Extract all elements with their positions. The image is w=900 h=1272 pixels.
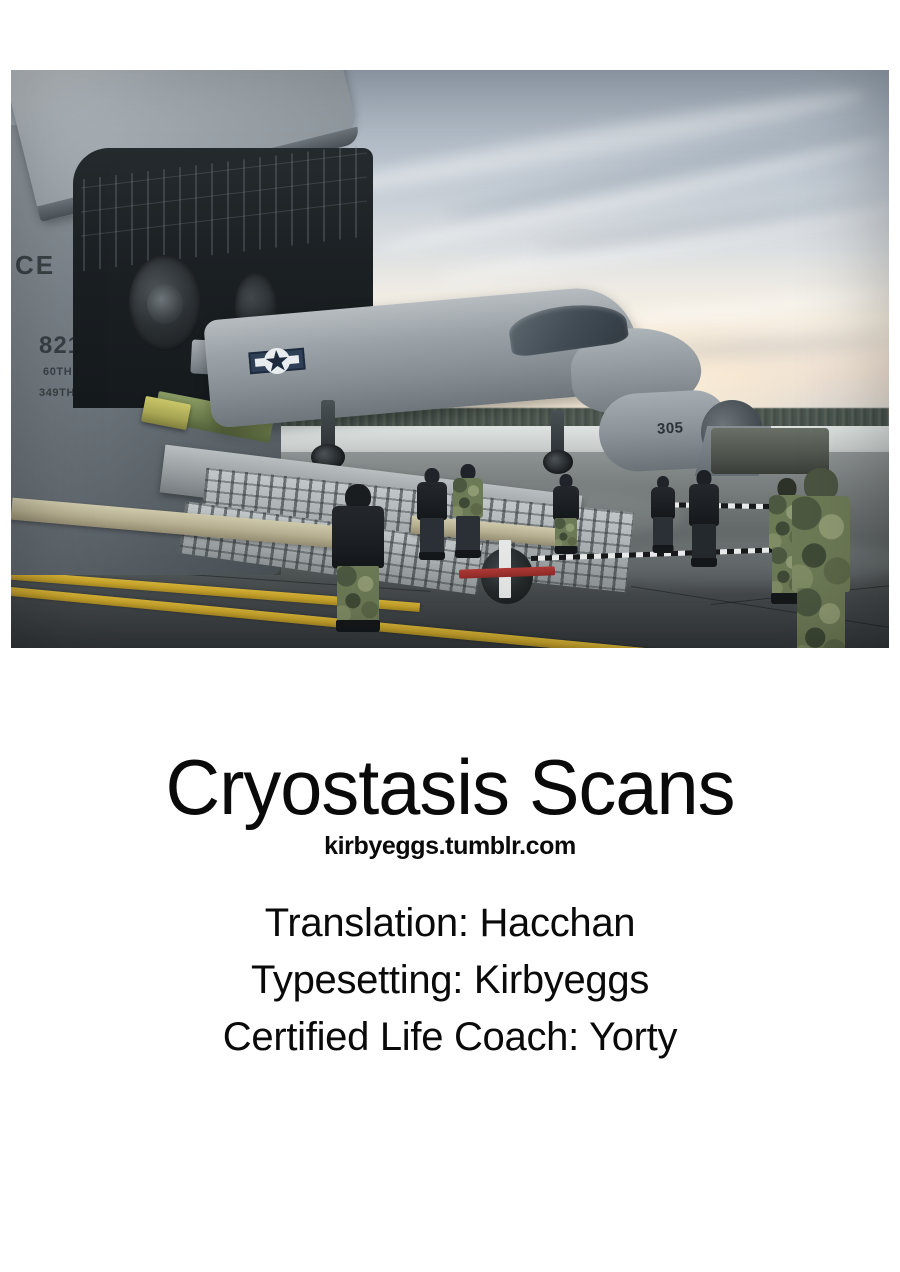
photo-stage: CE 8213 60TH AMW 349TH AMW MOBILITY C <box>11 70 889 648</box>
person-legs <box>692 524 716 560</box>
usaf-roundel-icon <box>248 344 306 379</box>
ground-crew-person <box>687 470 721 568</box>
person-torso <box>332 506 384 568</box>
person-legs <box>555 518 577 548</box>
cargo-bay-ribs <box>83 145 363 271</box>
ground-crew-person <box>649 476 677 554</box>
person-legs <box>653 517 673 547</box>
person-legs <box>337 566 379 622</box>
person-legs <box>797 588 845 648</box>
ground-crew-person <box>415 468 449 560</box>
person-boots <box>691 558 717 567</box>
a10-gear-tire <box>543 450 573 474</box>
ground-crew-person-foreground <box>789 468 853 648</box>
person-torso <box>453 478 483 518</box>
transport-service-marking: CE <box>15 250 55 281</box>
person-boots <box>653 545 674 553</box>
header-photograph: CE 8213 60TH AMW 349TH AMW MOBILITY C <box>11 70 889 648</box>
ground-crew-person <box>329 484 387 632</box>
credit-line-typesetting: Typesetting: Kirbyeggs <box>0 952 900 1009</box>
credit-line-translation: Translation: Hacchan <box>0 895 900 952</box>
person-torso <box>792 496 850 592</box>
credits-list: Translation: Hacchan Typesetting: Kirbye… <box>0 895 900 1065</box>
a10-number-marking: 305 <box>657 419 684 437</box>
person-torso <box>651 487 675 519</box>
page-title: Cryostasis Scans <box>14 748 887 826</box>
credits-block: Cryostasis Scans kirbyeggs.tumblr.com Tr… <box>0 660 900 1065</box>
person-boots <box>419 552 445 560</box>
ground-crew-person <box>451 464 485 560</box>
person-boots <box>555 546 578 554</box>
transport-gear-hub <box>147 284 183 324</box>
person-torso <box>689 484 719 526</box>
person-torso <box>417 482 447 520</box>
group-url: kirbyeggs.tumblr.com <box>0 832 900 861</box>
ground-crew-person <box>551 474 581 556</box>
credit-line-life-coach: Certified Life Coach: Yorty <box>0 1009 900 1066</box>
person-legs <box>420 518 444 554</box>
person-boots <box>455 550 481 558</box>
person-torso <box>553 486 579 520</box>
person-legs <box>456 516 480 552</box>
person-boots <box>336 620 380 632</box>
